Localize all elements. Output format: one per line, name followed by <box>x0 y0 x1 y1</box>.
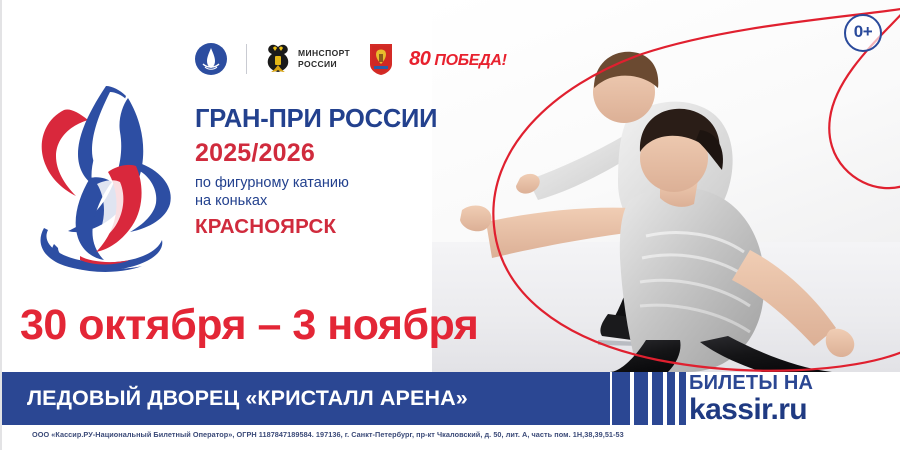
discipline-line2: на коньках <box>195 192 495 211</box>
kassir-bars-icon <box>612 372 689 425</box>
figure-skating-federation-logo-icon <box>194 42 228 76</box>
russian-flame-emblem <box>20 70 195 275</box>
tickets-label: БИЛЕТЫ НА <box>689 373 813 393</box>
victory-number: 80 <box>409 48 430 71</box>
venue-bar: ЛЕДОВЫЙ ДВОРЕЦ «КРИСТАЛЛ АРЕНА» <box>2 372 610 425</box>
event-name: ГРАН-ПРИ РОССИИ <box>195 106 495 133</box>
partner-logos: МИНСПОРТ РОССИИ 80 ПОБЕДА! <box>194 36 507 82</box>
kassir-wordmark: БИЛЕТЫ НА kassir.ru <box>689 373 813 425</box>
event-season: 2025/2026 <box>195 139 495 168</box>
event-city: КРАСНОЯРСК <box>195 215 495 239</box>
minsport-line1: МИНСПОРТ <box>298 48 350 59</box>
victory-word: ПОБЕДА! <box>434 52 506 70</box>
female-skater <box>460 109 854 372</box>
minsport-logo: МИНСПОРТ РОССИИ <box>265 43 350 75</box>
event-discipline: по фигурному катанию на коньках <box>195 174 495 211</box>
logo-divider <box>246 44 247 74</box>
kassir-ru-logo[interactable]: БИЛЕТЫ НА kassir.ru <box>610 372 900 425</box>
krasnoyarsk-krai-coat-of-arms-icon <box>368 42 394 76</box>
discipline-line1: по фигурному катанию <box>195 174 495 193</box>
minsport-label: МИНСПОРТ РОССИИ <box>298 48 350 69</box>
age-rating-badge: 0+ <box>844 14 882 52</box>
minsport-line2: РОССИИ <box>298 59 350 70</box>
victory-80-logo: 80 ПОБЕДА! <box>409 48 507 71</box>
legal-disclaimer: ООО «Кассир.РУ-Национальный Билетный Опе… <box>32 430 624 439</box>
event-title-block: ГРАН-ПРИ РОССИИ 2025/2026 по фигурному к… <box>195 106 495 239</box>
event-date-range: 30 октября – 3 ноября <box>20 301 478 350</box>
venue-name: ЛЕДОВЫЙ ДВОРЕЦ «КРИСТАЛЛ АРЕНА» <box>27 386 468 411</box>
event-poster: 0+ <box>0 0 900 450</box>
double-headed-eagle-icon <box>265 43 291 75</box>
kassir-domain: kassir.ru <box>689 395 813 425</box>
